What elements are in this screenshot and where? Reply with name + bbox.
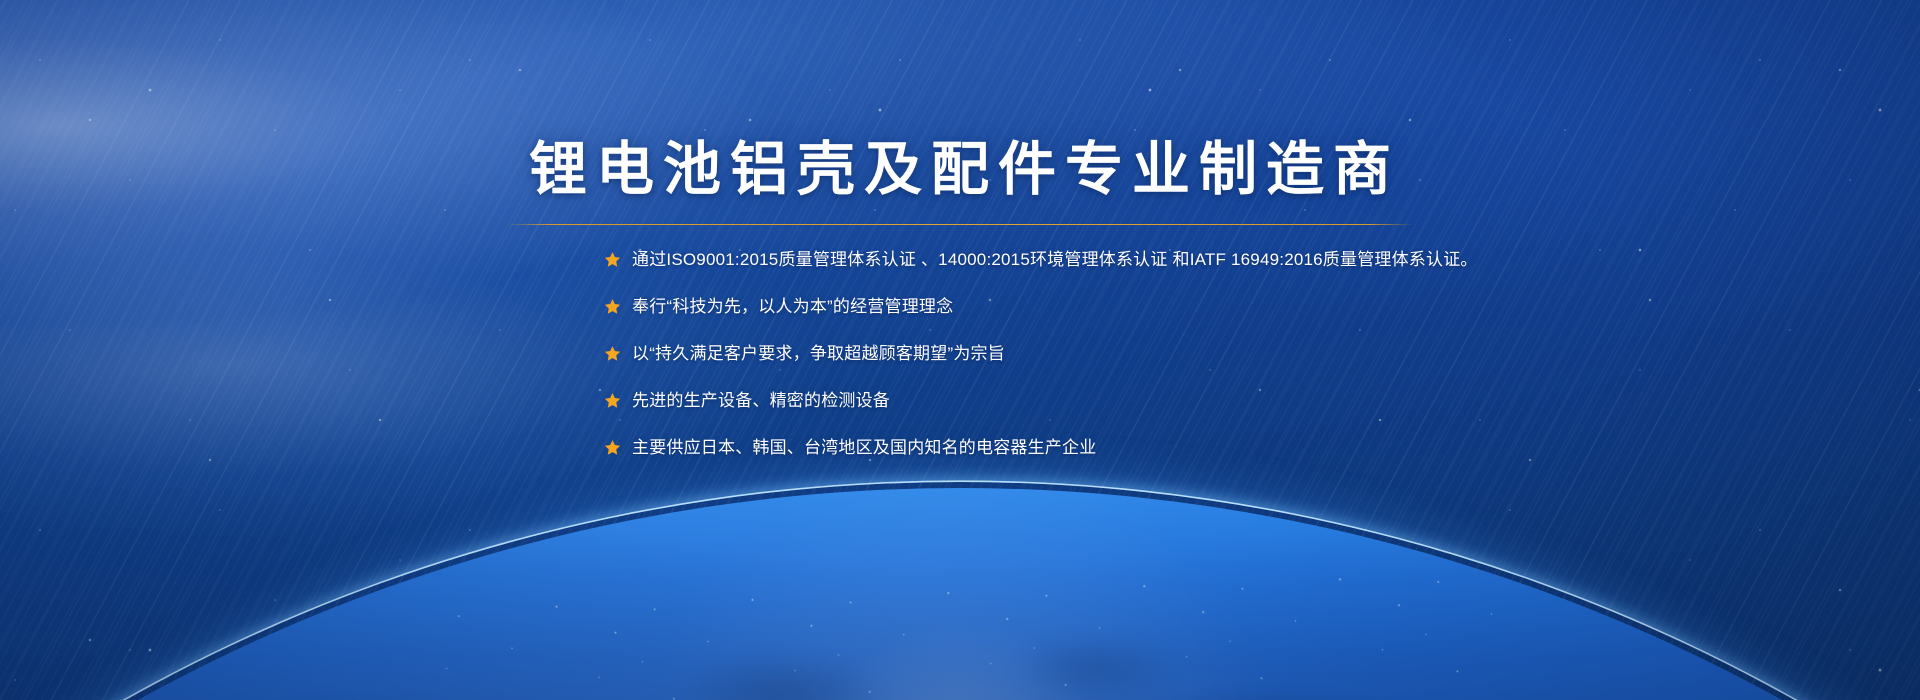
- list-item: 主要供应日本、韩国、台湾地区及国内知名的电容器生产企业: [604, 437, 1704, 484]
- hero-banner: 锂电池铝壳及配件专业制造商 通过ISO9001:2015质量管理体系认证 、14…: [0, 0, 1920, 700]
- list-item: 先进的生产设备、精密的检测设备: [604, 390, 1704, 437]
- list-item: 奉行“科技为先，以人为本”的经营管理理念: [604, 296, 1704, 343]
- list-item-label: 奉行“科技为先，以人为本”的经营管理理念: [632, 296, 953, 317]
- feature-list: 通过ISO9001:2015质量管理体系认证 、14000:2015环境管理体系…: [604, 249, 1704, 484]
- banner-content: 锂电池铝壳及配件专业制造商 通过ISO9001:2015质量管理体系认证 、14…: [0, 0, 1920, 700]
- star-icon: [604, 439, 621, 456]
- star-icon: [604, 298, 621, 315]
- list-item-label: 以“持久满足客户要求，争取超越顾客期望”为宗旨: [632, 343, 1005, 364]
- headline-divider: [506, 224, 1414, 225]
- list-item-label: 主要供应日本、韩国、台湾地区及国内知名的电容器生产企业: [632, 437, 1096, 458]
- list-item-label: 先进的生产设备、精密的检测设备: [632, 390, 890, 411]
- star-icon: [604, 345, 621, 362]
- list-item-label: 通过ISO9001:2015质量管理体系认证 、14000:2015环境管理体系…: [632, 249, 1478, 270]
- banner-headline: 锂电池铝壳及配件专业制造商: [0, 140, 1920, 201]
- list-item: 以“持久满足客户要求，争取超越顾客期望”为宗旨: [604, 343, 1704, 390]
- star-icon: [604, 392, 621, 409]
- list-item: 通过ISO9001:2015质量管理体系认证 、14000:2015环境管理体系…: [604, 249, 1704, 296]
- star-icon: [604, 251, 621, 268]
